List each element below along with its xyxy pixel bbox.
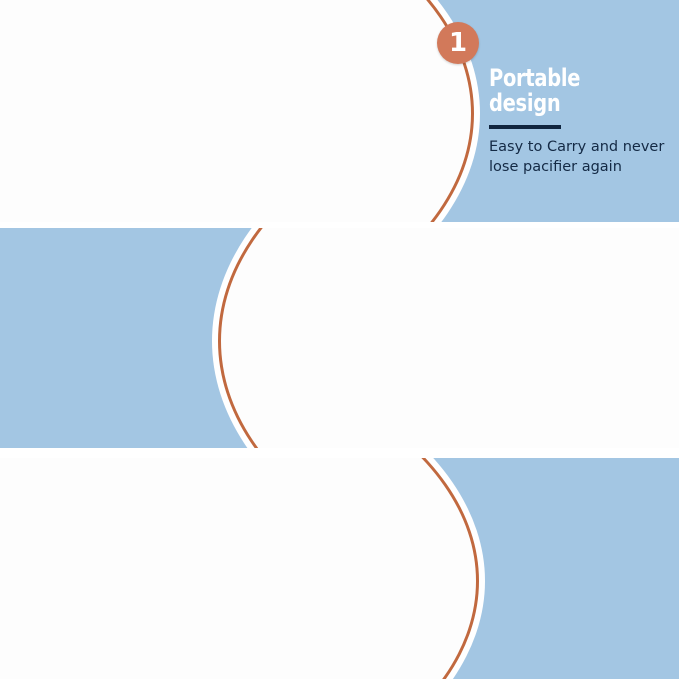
photo-boundary-arc-1 <box>0 0 474 222</box>
feature-panel-3: 3 Egg shell design The design principle … <box>0 458 679 679</box>
photo-boundary-arc-2 <box>218 228 679 448</box>
feature-text-1: Portable design Easy to Carry and never … <box>489 66 675 177</box>
step-badge-1: 1 <box>437 22 479 64</box>
feature-body-1: Easy to Carry and never lose pacifier ag… <box>489 137 675 177</box>
photo-boundary-arc-3 <box>0 458 479 679</box>
heading-underline-1 <box>489 125 561 129</box>
feature-heading-1: Portable design <box>489 66 656 117</box>
panel-divider-2 <box>0 448 679 458</box>
product-feature-infographic: 1 Portable design Easy to Carry and neve… <box>0 0 679 679</box>
feature-panel-2: 2 Extending Buckle Design Made it more f… <box>0 228 679 448</box>
feature-panel-1: 1 Portable design Easy to Carry and neve… <box>0 0 679 222</box>
